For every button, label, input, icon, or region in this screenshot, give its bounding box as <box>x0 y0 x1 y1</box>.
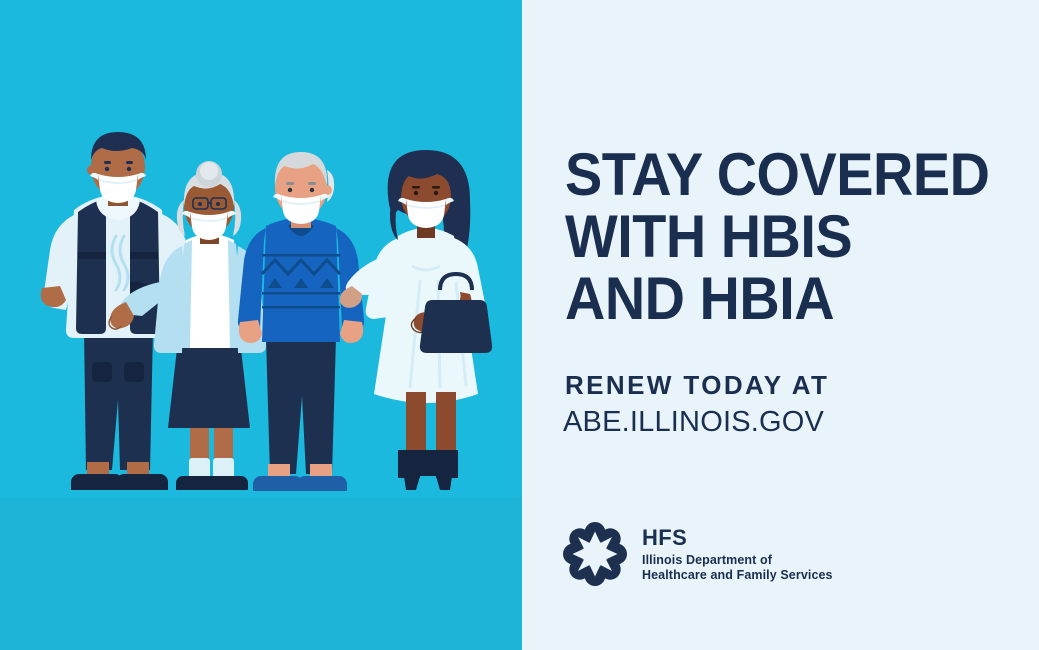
hfs-acronym: HFS <box>642 526 833 550</box>
illustration-panel <box>0 0 522 650</box>
hfs-logo-text: HFS Illinois Department of Healthcare an… <box>642 526 833 583</box>
hfs-agency-line-2: Healthcare and Family Services <box>642 568 833 583</box>
renew-call-to-action-label: RENEW TODAY AT <box>565 370 829 401</box>
hfs-logo-lockup: HFS Illinois Department of Healthcare an… <box>563 522 833 586</box>
figure-elderly-man-in-sweater <box>238 152 364 491</box>
page-title: STAY COVERED WITH HBIS AND HBIA <box>565 144 1002 330</box>
four-masked-people-illustration <box>0 0 522 650</box>
hfs-agency-line-1: Illinois Department of <box>642 553 833 568</box>
hfs-star-rosette-logo-icon <box>563 522 627 586</box>
content-panel: STAY COVERED WITH HBIS AND HBIA RENEW TO… <box>522 0 1039 650</box>
renewal-website-url[interactable]: ABE.ILLINOIS.GOV <box>563 406 824 439</box>
poster-canvas: STAY COVERED WITH HBIS AND HBIA RENEW TO… <box>0 0 1039 650</box>
